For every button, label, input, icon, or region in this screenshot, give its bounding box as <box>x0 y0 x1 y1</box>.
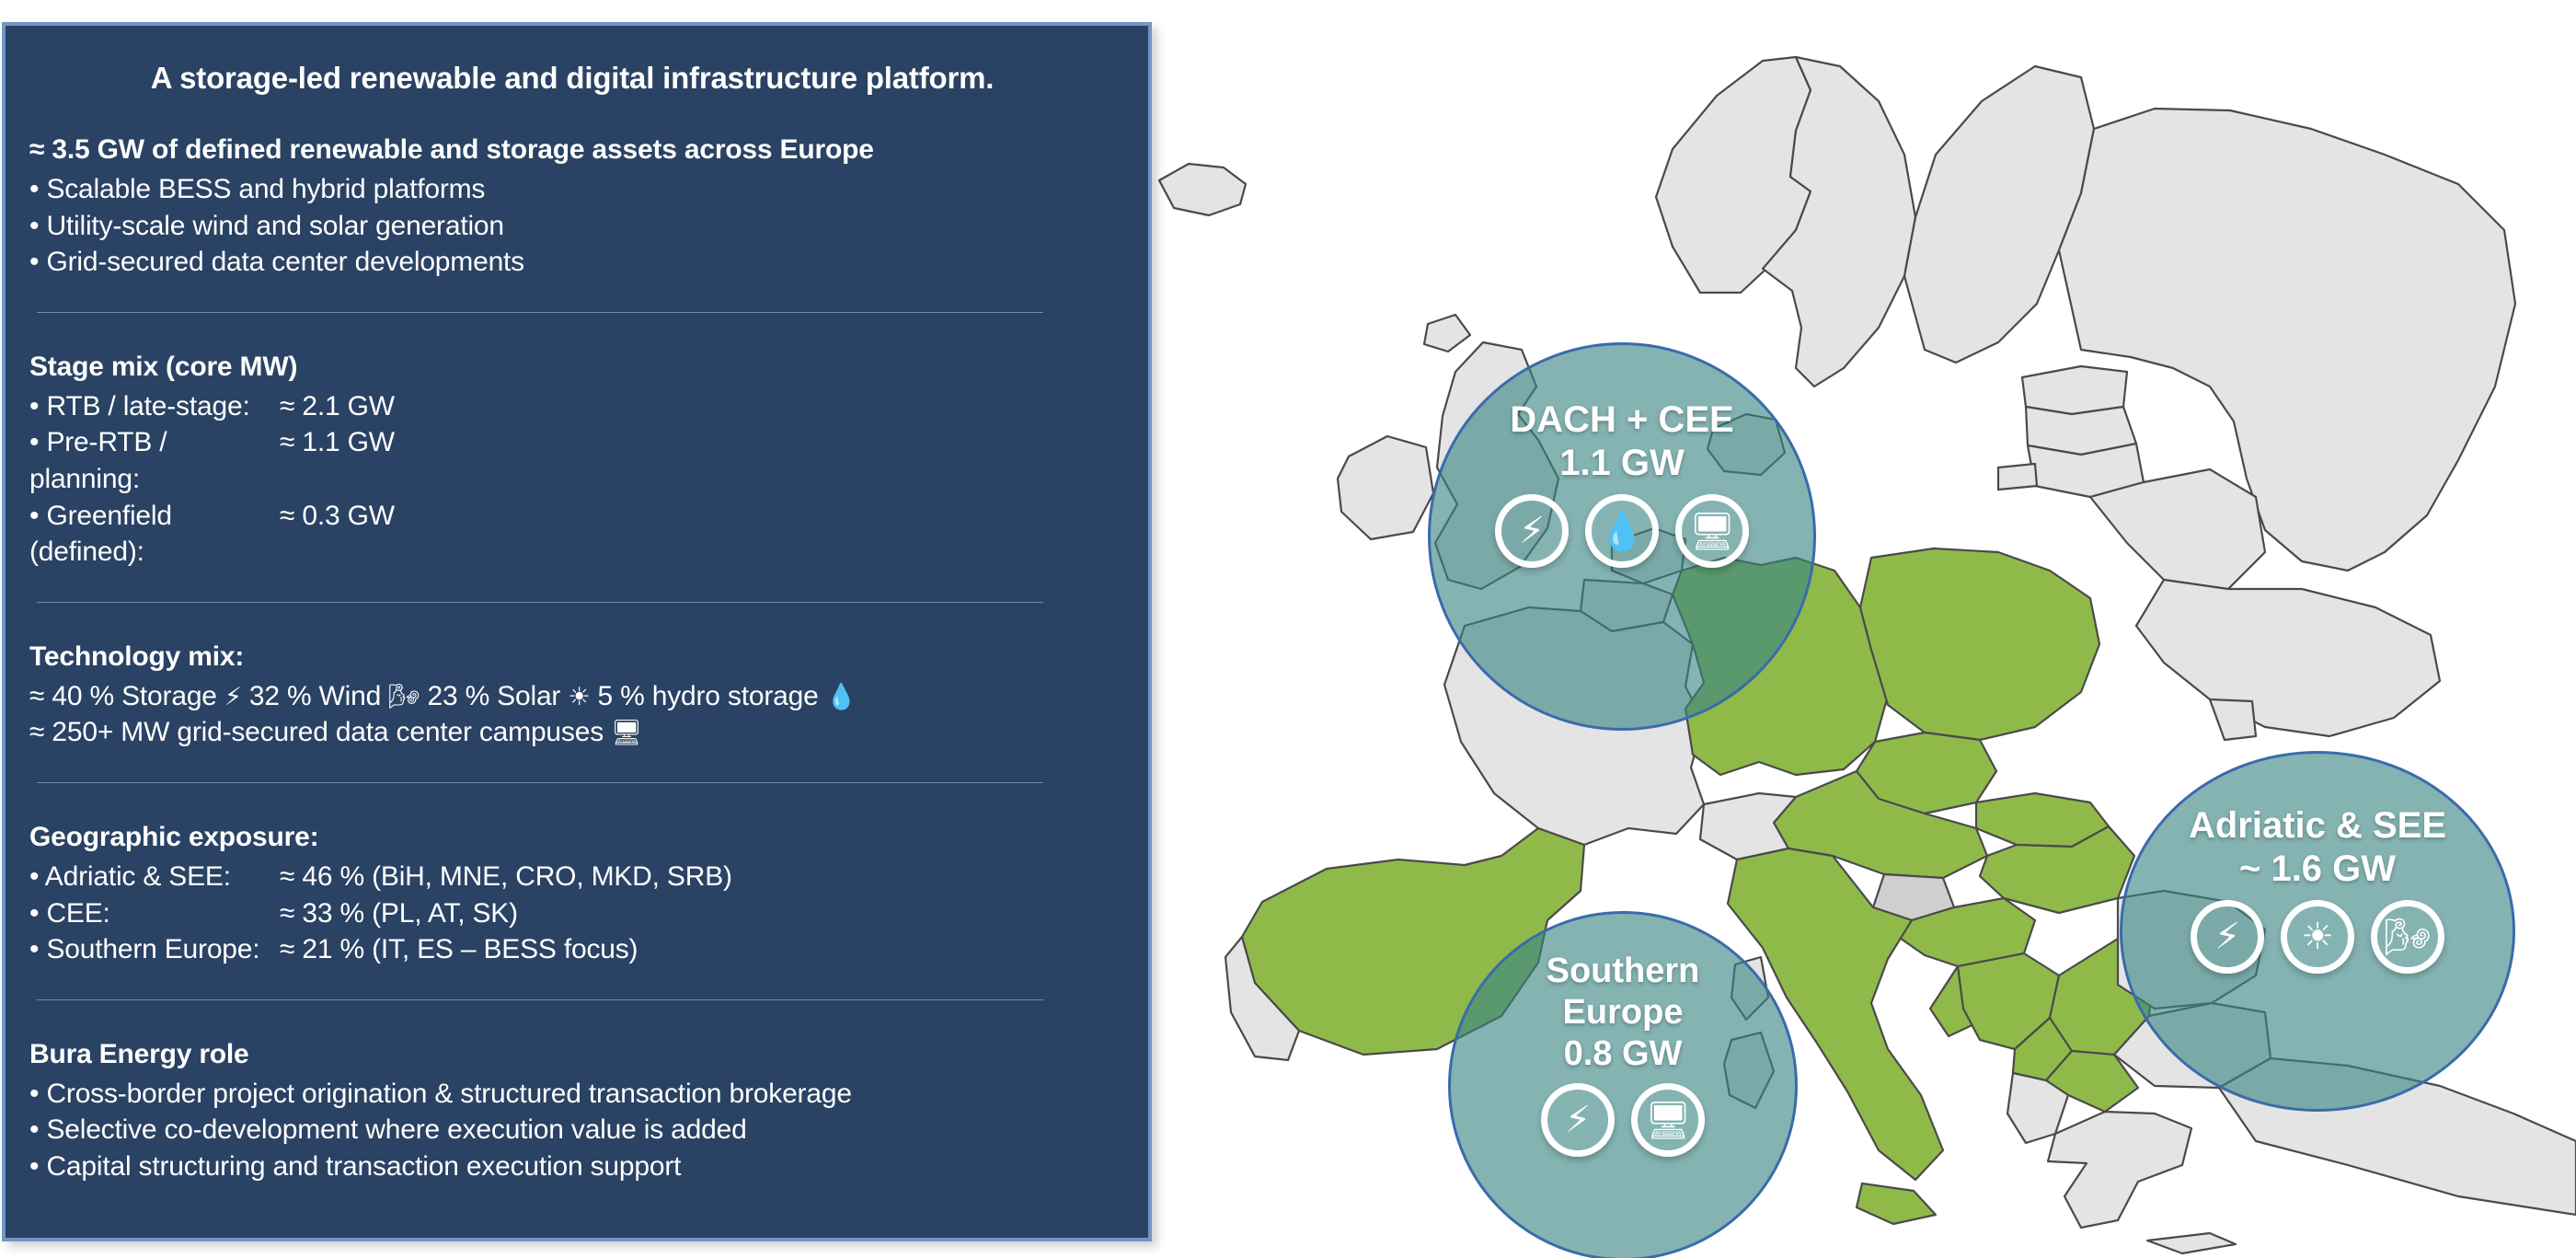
technology-mix-line-1: ≈ 40 % Storage ⚡ 32 % Wind 🌬 23 % Solar … <box>29 678 1115 715</box>
geo-row: • Southern Europe: ≈ 21 % (IT, ES – BESS… <box>29 931 1115 968</box>
stage-mix-label: • Greenfield (defined): <box>29 498 280 571</box>
headline-bullet-1: • Scalable BESS and hybrid platforms <box>29 171 1115 208</box>
stage-mix-row: • Pre-RTB / planning: ≈ 1.1 GW <box>29 424 1115 497</box>
geo-value: ≈ 33 % (PL, AT, SK) <box>280 895 518 932</box>
geo-row: • Adriatic & SEE: ≈ 46 % (BiH, MNE, CRO,… <box>29 859 1115 895</box>
bubble-southern-europe-title: Southern Europe <box>1547 951 1700 1033</box>
country-scotland-isles <box>1424 315 1470 352</box>
stage-mix-row: • Greenfield (defined): ≈ 0.3 GW <box>29 498 1115 571</box>
country-poland <box>1860 548 2099 740</box>
storage-bolt-icon[interactable]: ⚡ <box>1495 494 1569 568</box>
geographic-exposure-heading: Geographic exposure: <box>29 822 1115 853</box>
bubble-adriatic-see-value: ~ 1.6 GW <box>2239 848 2396 891</box>
tech-storage-text: ≈ 40 % Storage <box>29 681 217 711</box>
tech-datacenter-text: ≈ 250+ MW grid-secured data center campu… <box>29 717 604 747</box>
headline-section: ≈ 3.5 GW of defined renewable and storag… <box>29 134 1115 281</box>
headline-capacity: ≈ 3.5 GW of defined renewable and storag… <box>29 134 1115 166</box>
country-sicily <box>1857 1183 1936 1224</box>
stage-mix-value: ≈ 2.1 GW <box>280 388 395 425</box>
country-finland <box>1904 66 2094 363</box>
country-iceland <box>1159 164 1246 215</box>
divider-2 <box>37 602 1043 603</box>
country-ireland <box>1338 436 1433 539</box>
stage-mix-label: • Pre-RTB / planning: <box>29 424 280 497</box>
storage-bolt-icon[interactable]: ⚡ <box>1541 1083 1615 1157</box>
bubble-adriatic-see-title: Adriatic & SEE <box>2189 804 2446 848</box>
panel-title: A storage-led renewable and digital infr… <box>29 61 1115 96</box>
technology-mix-section: Technology mix: ≈ 40 % Storage ⚡ 32 % Wi… <box>29 641 1115 751</box>
bubble-adriatic-see-icon-row: ⚡ ☀ 🌬 <box>2191 900 2444 974</box>
bura-role-section: Bura Energy role • Cross-border project … <box>29 1039 1115 1185</box>
geo-label: • CEE: <box>29 895 280 932</box>
data-center-monitor-icon[interactable]: 🖥 <box>1675 494 1749 568</box>
stage-mix-row: • RTB / late-stage: ≈ 2.1 GW <box>29 388 1115 425</box>
divider-1 <box>37 312 1043 313</box>
bubble-southern-europe-value: 0.8 GW <box>1564 1033 1683 1075</box>
geo-label: • Southern Europe: <box>29 931 280 968</box>
bura-role-heading: Bura Energy role <box>29 1039 1115 1070</box>
country-estonia <box>2022 366 2127 414</box>
stage-mix-heading: Stage mix (core MW) <box>29 352 1115 383</box>
divider-4 <box>37 999 1043 1000</box>
data-center-monitor-icon[interactable]: 🖥 <box>1631 1083 1705 1157</box>
slide-root: DACH + CEE 1.1 GW ⚡ 💧 🖥 Adriatic & SEE ~… <box>0 0 2576 1258</box>
divider-3 <box>37 782 1043 783</box>
geo-value: ≈ 21 % (IT, ES – BESS focus) <box>280 931 638 968</box>
headline-bullet-3: • Grid-secured data center developments <box>29 244 1115 281</box>
country-moldova <box>2210 699 2256 740</box>
stage-mix-label: • RTB / late-stage: <box>29 388 280 425</box>
stage-mix-value: ≈ 0.3 GW <box>280 498 395 571</box>
technology-mix-heading: Technology mix: <box>29 641 1115 673</box>
bubble-dach-cee-value: 1.1 GW <box>1559 442 1685 485</box>
bura-role-bullet-3: • Capital structuring and transaction ex… <box>29 1148 1115 1185</box>
stage-mix-value: ≈ 1.1 GW <box>280 424 395 497</box>
info-panel: A storage-led renewable and digital infr… <box>2 22 1152 1241</box>
geographic-exposure-section: Geographic exposure: • Adriatic & SEE: ≈… <box>29 822 1115 968</box>
bubble-southern-europe-icon-row: ⚡ 🖥 <box>1541 1083 1705 1157</box>
country-crete <box>2147 1233 2236 1253</box>
headline-bullet-2: • Utility-scale wind and solar generatio… <box>29 208 1115 245</box>
geo-value: ≈ 46 % (BiH, MNE, CRO, MKD, SRB) <box>280 859 732 895</box>
europe-map: DACH + CEE 1.1 GW ⚡ 💧 🖥 Adriatic & SEE ~… <box>1152 0 2576 1258</box>
hydro-drop-icon: 💧 <box>826 683 857 711</box>
tech-solar-text: 23 % Solar <box>427 681 560 711</box>
solar-sun-icon: ☀ <box>568 683 590 711</box>
bura-role-bullet-2: • Selective co-development where executi… <box>29 1112 1115 1148</box>
bubble-dach-cee[interactable]: DACH + CEE 1.1 GW ⚡ 💧 🖥 <box>1428 342 1816 731</box>
country-ukraine <box>2136 580 2440 736</box>
wind-icon[interactable]: 🌬 <box>2371 900 2444 974</box>
country-kaliningrad <box>1998 464 2037 490</box>
data-center-monitor-icon: 🖥 <box>611 719 642 747</box>
bubble-southern-europe[interactable]: Southern Europe 0.8 GW ⚡ 🖥 <box>1448 911 1798 1258</box>
country-greece <box>2048 1112 2191 1228</box>
geo-label: • Adriatic & SEE: <box>29 859 280 895</box>
tech-hydro-text: 5 % hydro storage <box>598 681 819 711</box>
storage-bolt-icon[interactable]: ⚡ <box>2191 900 2264 974</box>
tech-wind-text: 32 % Wind <box>249 681 381 711</box>
hydro-drop-icon[interactable]: 💧 <box>1585 494 1659 568</box>
bubble-adriatic-see[interactable]: Adriatic & SEE ~ 1.6 GW ⚡ ☀ 🌬 <box>2120 751 2515 1112</box>
stage-mix-section: Stage mix (core MW) • RTB / late-stage: … <box>29 352 1115 571</box>
bubble-dach-cee-icon-row: ⚡ 💧 🖥 <box>1495 494 1749 568</box>
storage-bolt-icon: ⚡ <box>224 683 242 711</box>
geo-row: • CEE: ≈ 33 % (PL, AT, SK) <box>29 895 1115 932</box>
solar-sun-icon[interactable]: ☀ <box>2281 900 2354 974</box>
bura-role-bullet-1: • Cross-border project origination & str… <box>29 1076 1115 1113</box>
wind-icon: 🌬 <box>388 683 420 711</box>
technology-mix-line-2: ≈ 250+ MW grid-secured data center campu… <box>29 714 1115 751</box>
bubble-dach-cee-title: DACH + CEE <box>1510 398 1733 442</box>
